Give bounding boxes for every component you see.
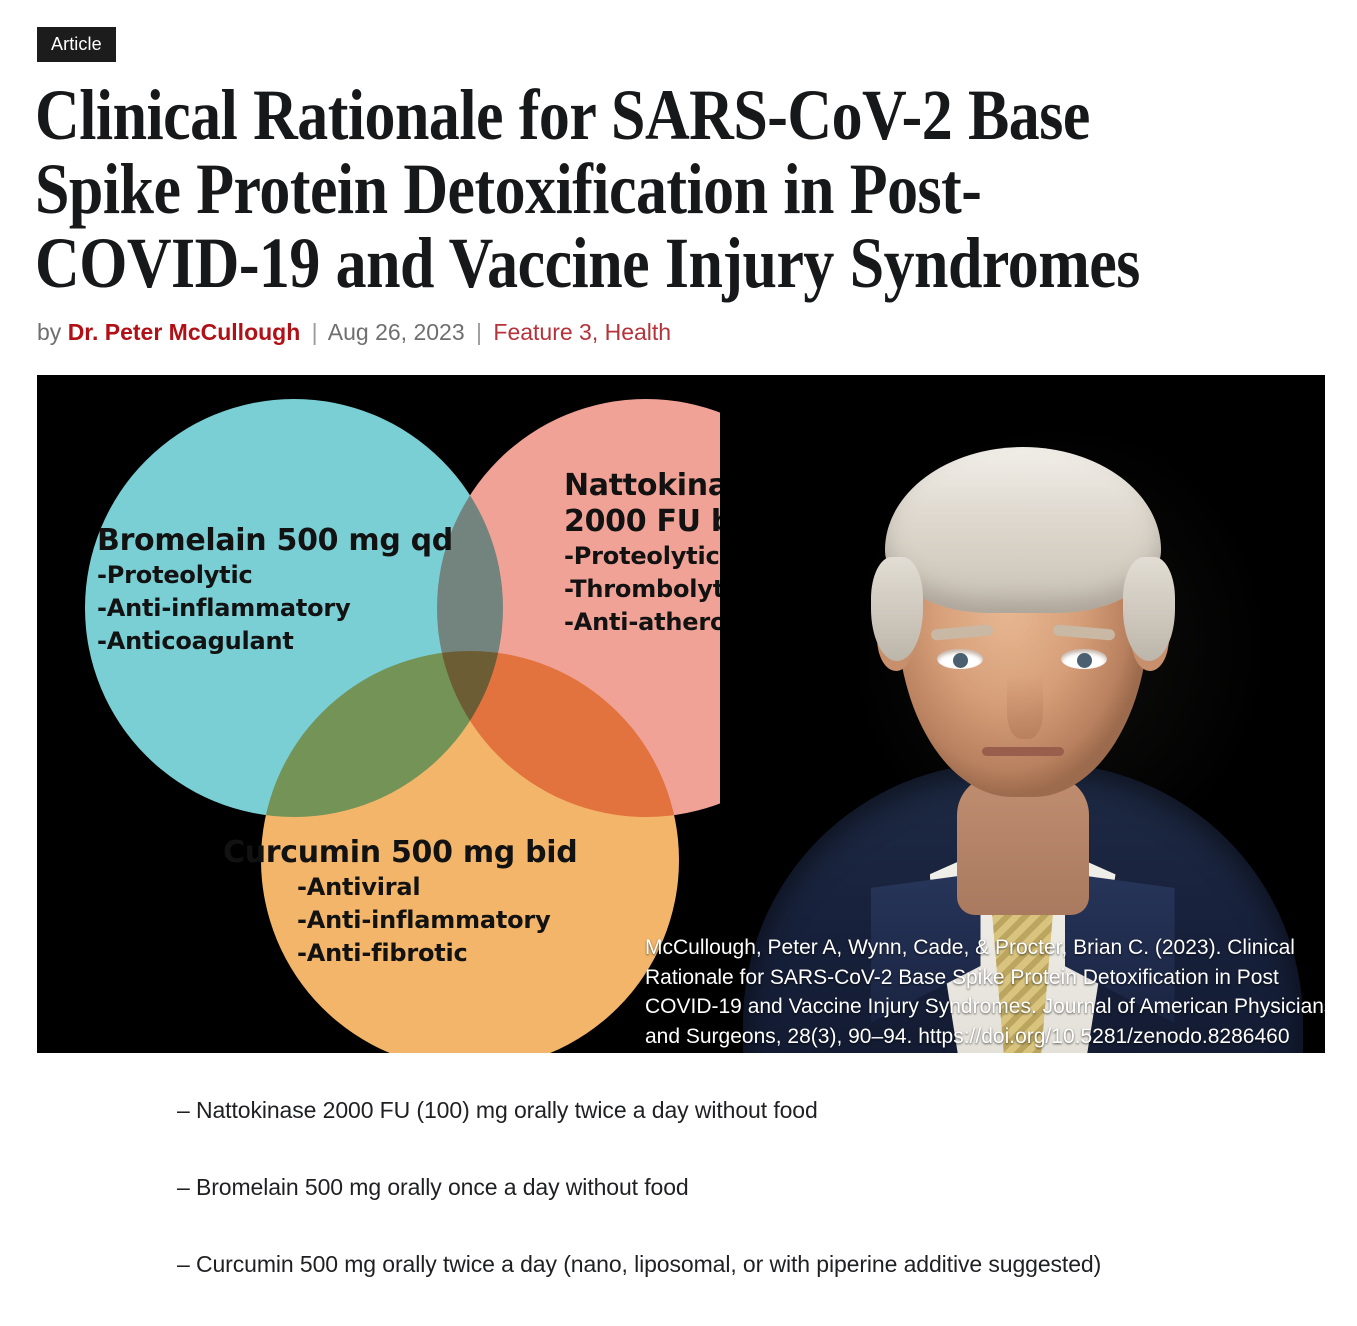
- venn-label-bromelain: Bromelain 500 mg qd -Proteolytic -Anti-i…: [97, 523, 453, 658]
- venn-item-curcumin-3: -Anti-fibrotic: [297, 937, 577, 970]
- hair: [885, 447, 1161, 613]
- pupil-right: [1077, 653, 1092, 668]
- nose: [1007, 675, 1043, 739]
- hair-side-left: [871, 557, 923, 661]
- venn-item-curcumin-2: -Anti-inflammatory: [297, 904, 577, 937]
- venn-heading-curcumin: Curcumin 500 mg bid: [223, 835, 577, 871]
- image-citation: McCullough, Peter A, Wynn, Cade, & Proct…: [645, 933, 1325, 1051]
- hair-side-right: [1123, 557, 1175, 661]
- dosing-list-item: – Nattokinase 2000 FU (100) mg orally tw…: [177, 1095, 1297, 1125]
- venn-heading-bromelain: Bromelain 500 mg qd: [97, 523, 453, 559]
- venn-item-curcumin-1: -Antiviral: [297, 871, 577, 904]
- article-type-badge[interactable]: Article: [37, 27, 116, 62]
- byline-date: Aug 26, 2023: [328, 319, 465, 345]
- pupil-left: [953, 653, 968, 668]
- byline-separator-2: |: [471, 319, 487, 345]
- dosing-list: – Nattokinase 2000 FU (100) mg orally tw…: [177, 1095, 1297, 1326]
- venn-item-bromelain-2: -Anti-inflammatory: [97, 592, 453, 625]
- mouth: [982, 747, 1064, 756]
- byline: by Dr. Peter McCullough | Aug 26, 2023 |…: [37, 318, 671, 346]
- byline-author-link[interactable]: Dr. Peter McCullough: [68, 319, 301, 345]
- venn-items-curcumin: -Antiviral -Anti-inflammatory -Anti-fibr…: [223, 871, 577, 970]
- featured-image: Bromelain 500 mg qd -Proteolytic -Anti-i…: [37, 375, 1325, 1053]
- dosing-list-item: – Bromelain 500 mg orally once a day wit…: [177, 1172, 1297, 1202]
- byline-by-label: by: [37, 319, 61, 345]
- page-title: Clinical Rationale for SARS-CoV-2 Base S…: [35, 78, 1149, 300]
- venn-label-curcumin: Curcumin 500 mg bid -Antiviral -Anti-inf…: [223, 835, 577, 970]
- byline-separator-1: |: [307, 319, 323, 345]
- dosing-list-item: – Curcumin 500 mg orally twice a day (na…: [177, 1249, 1297, 1279]
- venn-item-bromelain-1: -Proteolytic: [97, 559, 453, 592]
- byline-categories-link[interactable]: Feature 3, Health: [493, 319, 671, 345]
- venn-item-bromelain-3: -Anticoagulant: [97, 625, 453, 658]
